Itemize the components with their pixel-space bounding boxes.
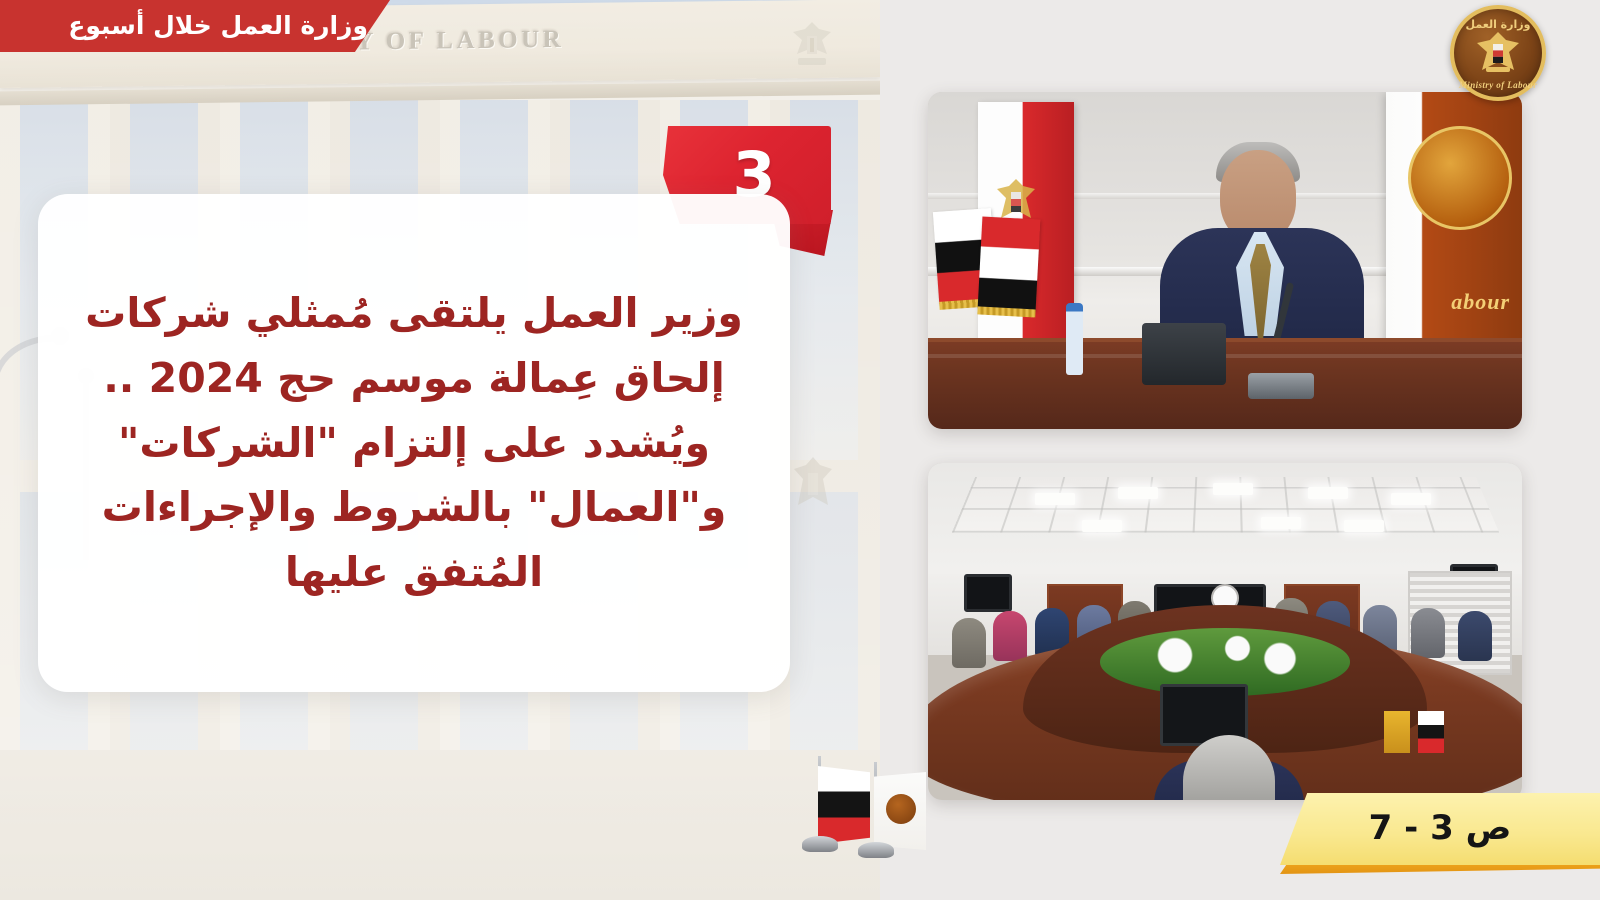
minister-at-desk-photo: abour <box>928 92 1522 429</box>
wall-display-left <box>964 574 1012 612</box>
headline-text: وزير العمل يلتقى مُمثلي شركات إلحاق عِما… <box>84 281 744 605</box>
seal-arabic-label: وزارة العمل <box>1454 18 1542 31</box>
desk-flag-ministry <box>1384 711 1410 753</box>
series-banner-label: وزارة العمل خلال أسبوع <box>68 13 368 38</box>
water-bottle <box>1066 303 1083 375</box>
page-number-label: ص 3 - 7 <box>1280 793 1600 865</box>
eagle-emblem-icon <box>786 18 838 76</box>
desk-flag-egypt <box>1418 711 1444 753</box>
desk-flags-group <box>800 740 940 900</box>
page-number-badge: ص 3 - 7 <box>1280 793 1600 865</box>
desk-flag-ministry <box>978 217 1041 312</box>
egypt-flag-icon <box>818 766 870 844</box>
poster-canvas: MINISTRY OF LABOUR وزارة العمل خلال أسبو… <box>0 0 1600 900</box>
desk-phone <box>1248 373 1314 399</box>
meeting-room-photo <box>928 463 1522 800</box>
seal-english-label: Ministry of Labour <box>1454 80 1542 90</box>
ministry-flag-icon <box>874 772 926 850</box>
desk-console <box>1142 323 1226 385</box>
ministry-seal-icon: وزارة العمل Ministry of Labour <box>1450 5 1546 101</box>
headline-card: وزير العمل يلتقى مُمثلي شركات إلحاق عِما… <box>38 194 790 692</box>
ministry-banner: abour <box>1386 92 1522 375</box>
ministry-banner-word: abour <box>1451 289 1510 315</box>
facade-plaque-icon <box>790 455 836 521</box>
eagle-emblem-icon <box>1475 29 1521 77</box>
series-banner: وزارة العمل خلال أسبوع <box>0 0 390 52</box>
ministry-banner-seal <box>1408 126 1512 230</box>
